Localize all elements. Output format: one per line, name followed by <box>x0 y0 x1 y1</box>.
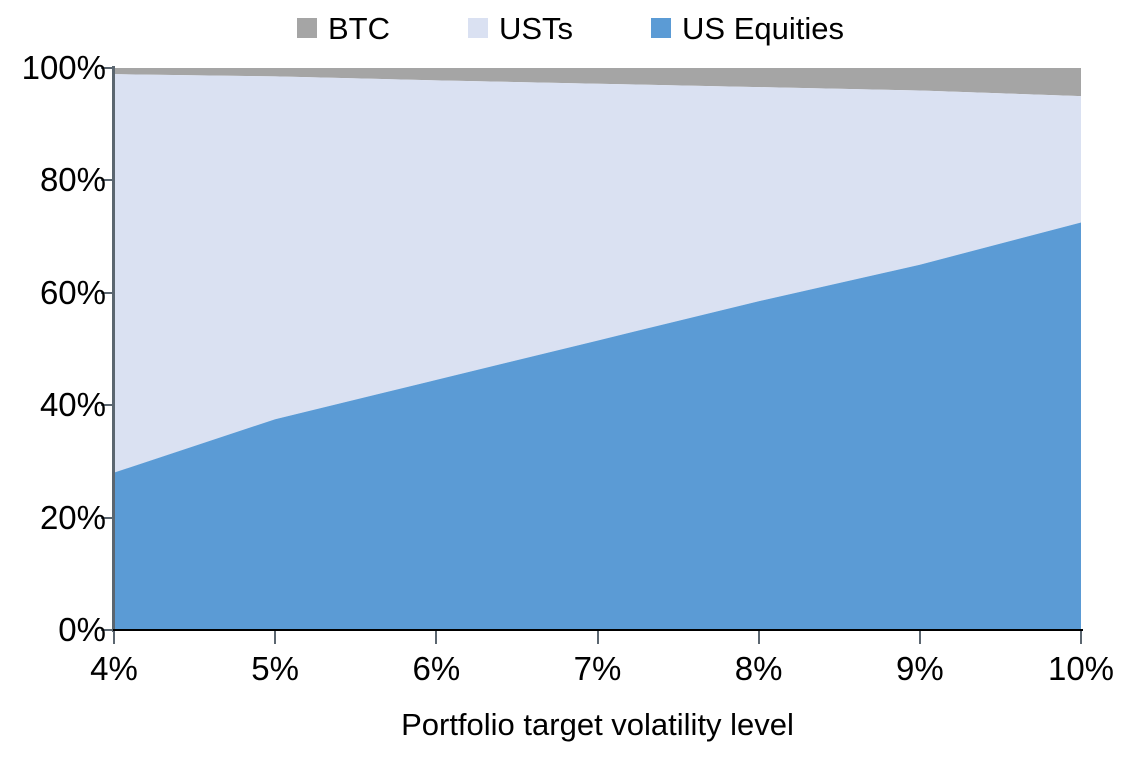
stacked-area-chart: BTC USTs US Equities 0%20%40%60%80%100% … <box>0 0 1141 763</box>
x-axis-tick <box>274 631 276 644</box>
legend-label-btc: BTC <box>328 13 390 44</box>
legend-item-btc[interactable]: BTC <box>297 13 390 44</box>
legend-label-us-equities: US Equities <box>682 13 844 44</box>
y-axis-tick-label: 0% <box>58 613 106 646</box>
square-swatch-icon <box>297 18 317 38</box>
y-axis-line <box>112 66 115 632</box>
x-axis-tick <box>597 631 599 644</box>
legend-item-us-equities[interactable]: US Equities <box>651 13 844 44</box>
y-axis-tick-label: 40% <box>40 388 106 421</box>
y-axis-tick-label: 20% <box>40 501 106 534</box>
x-axis-tick-label: 10% <box>1048 652 1114 685</box>
y-axis-tick-label: 80% <box>40 163 106 196</box>
x-axis-tick-label: 9% <box>896 652 944 685</box>
plot-area <box>114 68 1081 630</box>
x-axis-tick-label: 6% <box>412 652 460 685</box>
legend-item-usts[interactable]: USTs <box>468 13 573 44</box>
square-swatch-icon <box>651 18 671 38</box>
square-swatch-icon <box>468 18 488 38</box>
y-axis-tick-label: 100% <box>22 51 106 84</box>
x-axis-tick-label: 5% <box>251 652 299 685</box>
legend-label-usts: USTs <box>499 13 573 44</box>
x-axis-title: Portfolio target volatility level <box>114 708 1081 742</box>
x-axis-tick <box>435 631 437 644</box>
x-axis-tick <box>113 631 115 644</box>
x-axis-tick <box>919 631 921 644</box>
y-axis-tick-label: 60% <box>40 276 106 309</box>
x-axis-tick-label: 4% <box>90 652 138 685</box>
x-axis-tick <box>758 631 760 644</box>
x-axis-tick <box>1080 631 1082 644</box>
x-axis-tick-label: 8% <box>735 652 783 685</box>
chart-legend: BTC USTs US Equities <box>0 6 1141 50</box>
x-axis-tick-label: 7% <box>574 652 622 685</box>
area-series-canvas <box>114 68 1081 630</box>
